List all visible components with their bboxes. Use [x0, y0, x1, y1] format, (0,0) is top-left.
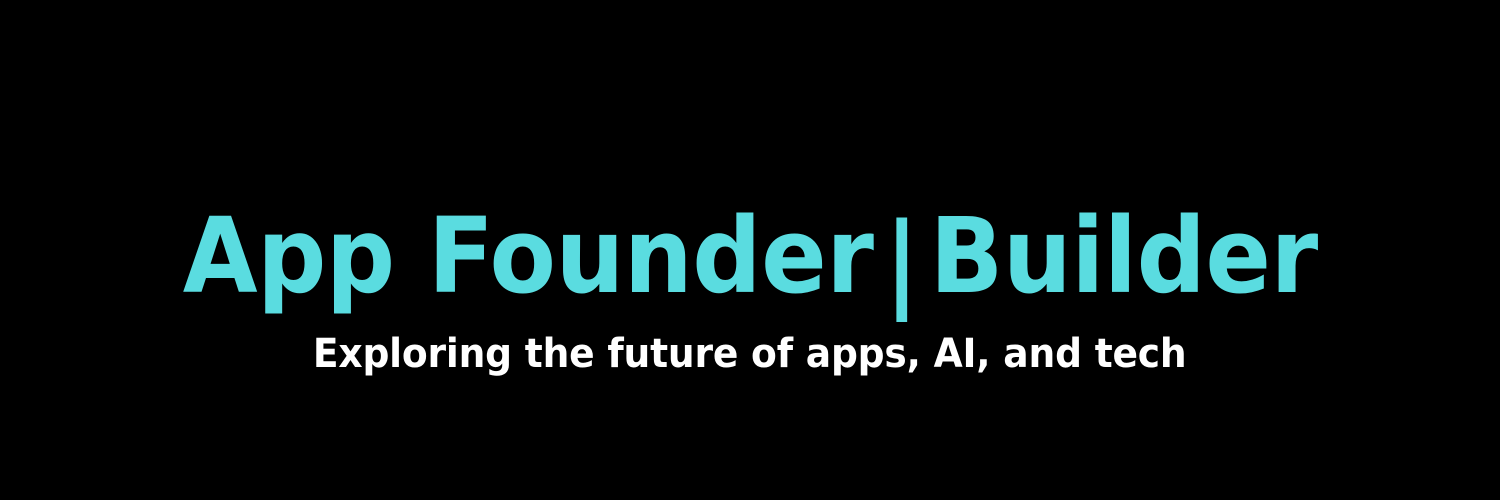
page-subtitle: Exploring the future of apps, AI, and te…	[313, 332, 1187, 376]
profile-banner: App Founder|Builder Exploring the future…	[0, 0, 1500, 500]
headline-separator: |	[873, 210, 929, 314]
headline-part-two: Builder	[929, 195, 1317, 317]
headline-row: App Founder|Builder	[0, 196, 1500, 316]
page-title: App Founder|Builder	[182, 204, 1317, 308]
subtitle-row: Exploring the future of apps, AI, and te…	[0, 328, 1500, 380]
headline-part-one: App Founder	[182, 195, 873, 317]
banner-content: App Founder|Builder Exploring the future…	[0, 0, 1500, 500]
